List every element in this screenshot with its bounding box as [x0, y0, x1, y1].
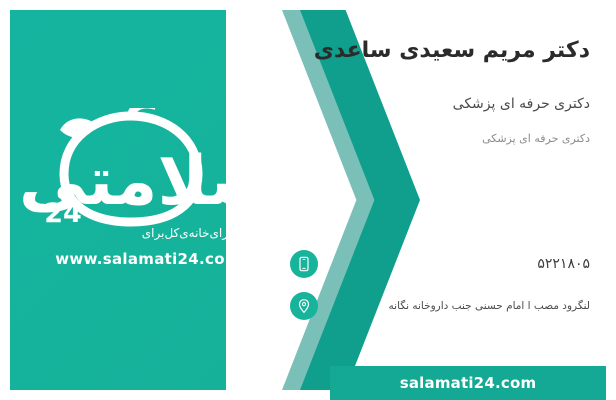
phone-icon [290, 250, 318, 278]
doctor-name: دکتر مریم سعیدی ساعدی [290, 38, 590, 63]
logo-website: www.salamati24.com [23, 250, 273, 268]
logo-tagline: برای‌خانه‌ی‌کل‌برای [122, 226, 252, 240]
doctor-specialty-secondary: دکتری حرفه ای پزشکی [290, 132, 590, 145]
logo-badge-24: 24 [40, 194, 86, 234]
footer-site-label: salamati24.com [330, 366, 606, 400]
location-pin-icon [290, 292, 318, 320]
logo: سلامتی 24 برای‌خانه‌ی‌کل‌برای www.salama… [18, 108, 278, 278]
address-text: لنگرود مصب ا امام حسنی جنب داروخانه نگان… [328, 300, 590, 312]
contact-phone-row: ۵۲۲۱۸۰۵ [290, 250, 590, 278]
business-card: salamati24.com سلامتی 24 برای‌خانه‌ی‌کل‌… [0, 0, 616, 400]
phone-number: ۵۲۲۱۸۰۵ [328, 256, 590, 272]
contact-address-row: لنگرود مصب ا امام حسنی جنب داروخانه نگان… [290, 292, 590, 320]
doctor-specialty: دکتری حرفه ای پزشکی [290, 96, 590, 112]
